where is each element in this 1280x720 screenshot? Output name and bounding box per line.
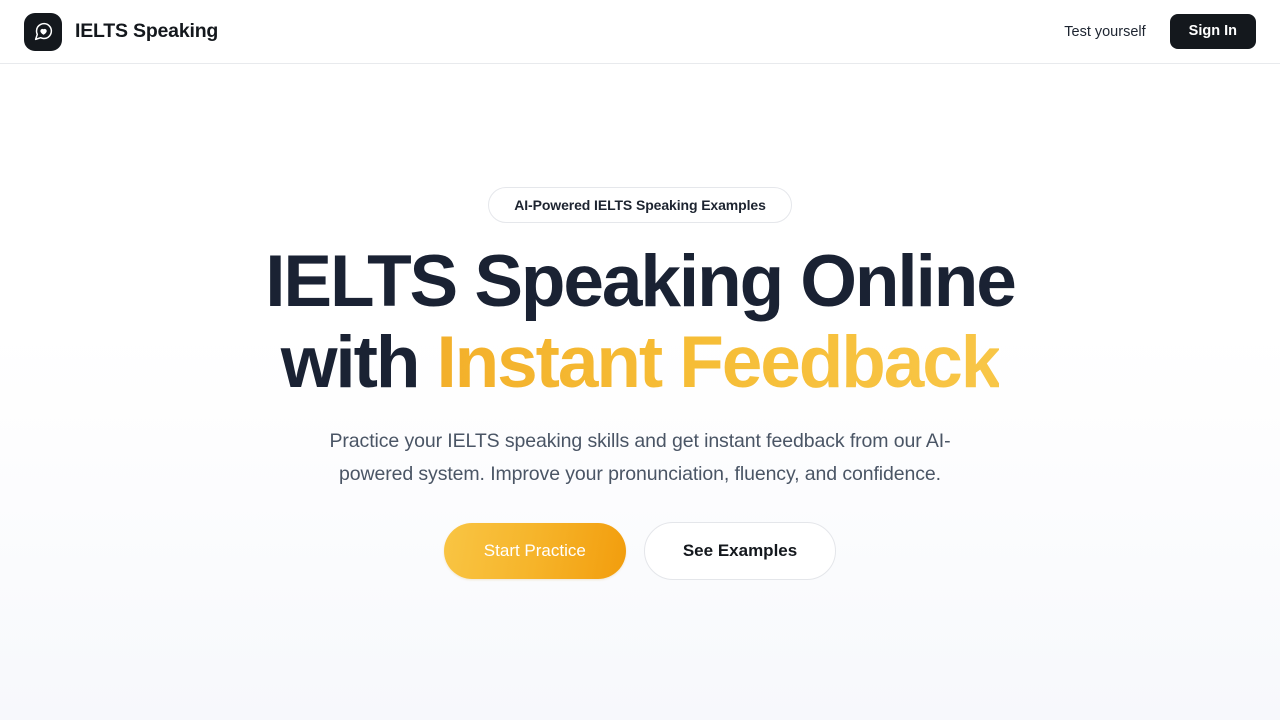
header-nav: Test yourself Sign In xyxy=(1064,14,1256,50)
headline-line-1: IELTS Speaking Online xyxy=(265,241,1015,322)
see-examples-button[interactable]: See Examples xyxy=(644,522,836,580)
hero-section: AI-Powered IELTS Speaking Examples IELTS… xyxy=(0,64,1280,720)
sign-in-button[interactable]: Sign In xyxy=(1170,14,1256,50)
headline-line-2-prefix: with xyxy=(281,322,437,403)
headline-accent-text: Instant Feedback xyxy=(437,322,1000,403)
site-header: IELTS Speaking Test yourself Sign In xyxy=(0,0,1280,64)
chat-heart-icon xyxy=(24,13,62,51)
page-root: IELTS Speaking Test yourself Sign In AI-… xyxy=(0,0,1280,720)
hero-subtitle: Practice your IELTS speaking skills and … xyxy=(304,425,976,490)
brand-name: IELTS Speaking xyxy=(75,20,218,43)
hero-badge: AI-Powered IELTS Speaking Examples xyxy=(488,187,792,223)
brand-logo[interactable]: IELTS Speaking xyxy=(24,13,218,51)
nav-link-test-yourself[interactable]: Test yourself xyxy=(1064,24,1145,40)
hero-cta-row: Start Practice See Examples xyxy=(444,522,836,580)
page-title: IELTS Speaking Online with Instant Feedb… xyxy=(265,242,1015,403)
start-practice-button[interactable]: Start Practice xyxy=(444,523,626,579)
